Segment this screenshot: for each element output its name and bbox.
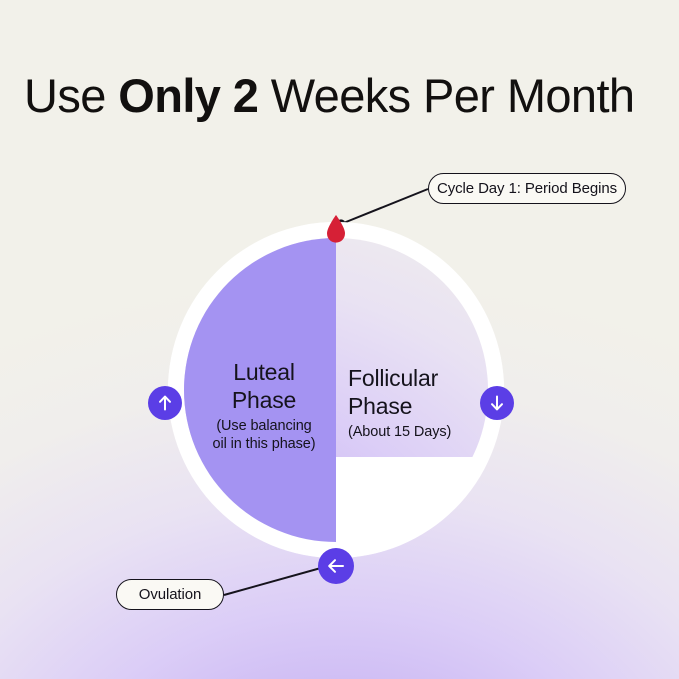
blood-drop-icon: [325, 214, 347, 244]
luteal-phase-name-line-2: Phase: [200, 386, 328, 414]
luteal-phase-sub-line-2: oil in this phase): [200, 435, 328, 453]
luteal-phase-name-line-1: Luteal: [200, 358, 328, 386]
arrow-left-icon: [325, 555, 347, 577]
luteal-phase-label: Luteal Phase (Use balancing oil in this …: [200, 358, 328, 453]
cycle-infographic: Use Only 2 Weeks Per Month Luteal Phase …: [0, 0, 679, 679]
follicular-phase-name-line-2: Phase: [348, 392, 498, 420]
luteal-phase-sub-line-1: (Use balancing: [200, 417, 328, 435]
ovulation-callout[interactable]: Ovulation: [116, 579, 224, 610]
cycle-day-1-callout-label: Cycle Day 1: Period Begins: [437, 180, 617, 197]
follicular-phase-label: Follicular Phase (About 15 Days): [348, 364, 498, 441]
ovulation-callout-label: Ovulation: [139, 586, 201, 603]
follicular-phase-sub-line-1: (About 15 Days): [348, 423, 498, 441]
follicular-phase-name-line-1: Follicular: [348, 364, 498, 392]
arrow-down-icon: [487, 393, 507, 413]
title-part-regular-2: Weeks Per Month: [258, 69, 634, 122]
title-part-regular-1: Use: [24, 69, 118, 122]
title-part-bold: Only 2: [118, 69, 258, 122]
arrow-down-badge[interactable]: [480, 386, 514, 420]
arrow-up-icon: [155, 393, 175, 413]
cycle-day-1-callout[interactable]: Cycle Day 1: Period Begins: [428, 173, 626, 204]
page-title: Use Only 2 Weeks Per Month: [24, 65, 634, 127]
ovulation-arrow-left-badge[interactable]: [318, 548, 354, 584]
arrow-up-badge[interactable]: [148, 386, 182, 420]
